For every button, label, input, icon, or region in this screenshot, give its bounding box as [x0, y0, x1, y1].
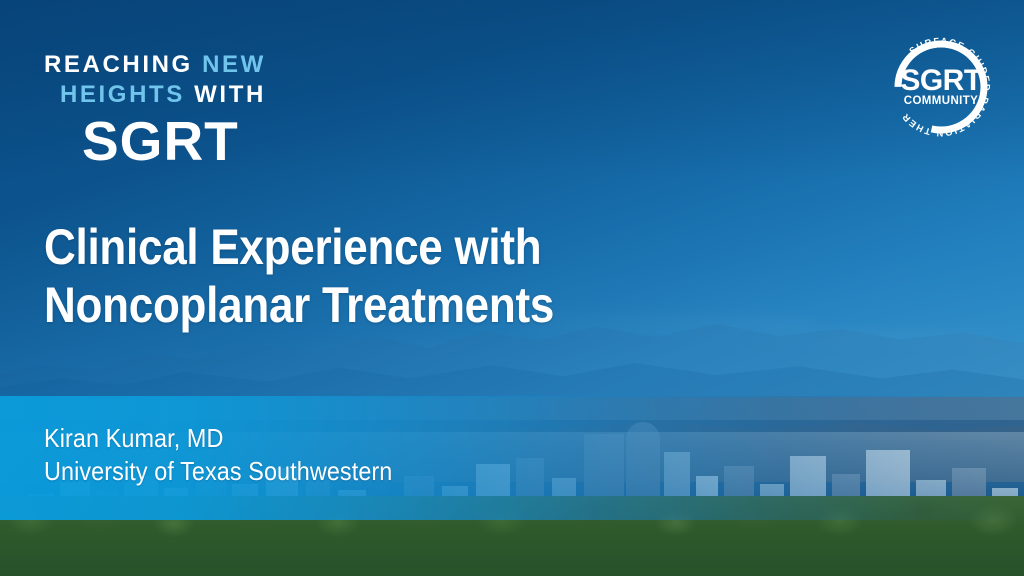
presenter-name: Kiran Kumar, MD [44, 422, 392, 455]
logo-center-sgrt: SGRT [900, 64, 982, 97]
tagline-line-1: REACHING NEW [44, 50, 266, 80]
page-title: Clinical Experience with Noncoplanar Tre… [44, 218, 554, 334]
presenter-info: Kiran Kumar, MD University of Texas Sout… [44, 422, 392, 488]
tagline-word-heights: HEIGHTS [60, 81, 185, 108]
tagline-word-new: NEW [202, 51, 266, 78]
tagline-word-reaching: REACHING [44, 51, 193, 78]
logo-center-community: COMMUNITY [904, 95, 979, 107]
tagline-wordmark-sgrt: SGRT [44, 112, 266, 170]
tagline-line-2: HEIGHTS WITH [44, 80, 266, 110]
presenter-affiliation: University of Texas Southwestern [44, 455, 392, 488]
tagline-word-with: WITH [194, 81, 266, 108]
title-line-1: Clinical Experience with [44, 218, 554, 276]
brand-tagline-lockup: REACHING NEW HEIGHTS WITH SGRT [44, 50, 266, 170]
title-line-2: Noncoplanar Treatments [44, 276, 554, 334]
sgrt-community-logo: SURFACE GUIDED RADIATION THERAPY SGRT CO… [882, 28, 1000, 146]
title-slide: REACHING NEW HEIGHTS WITH SGRT SURFACE G… [0, 0, 1024, 576]
